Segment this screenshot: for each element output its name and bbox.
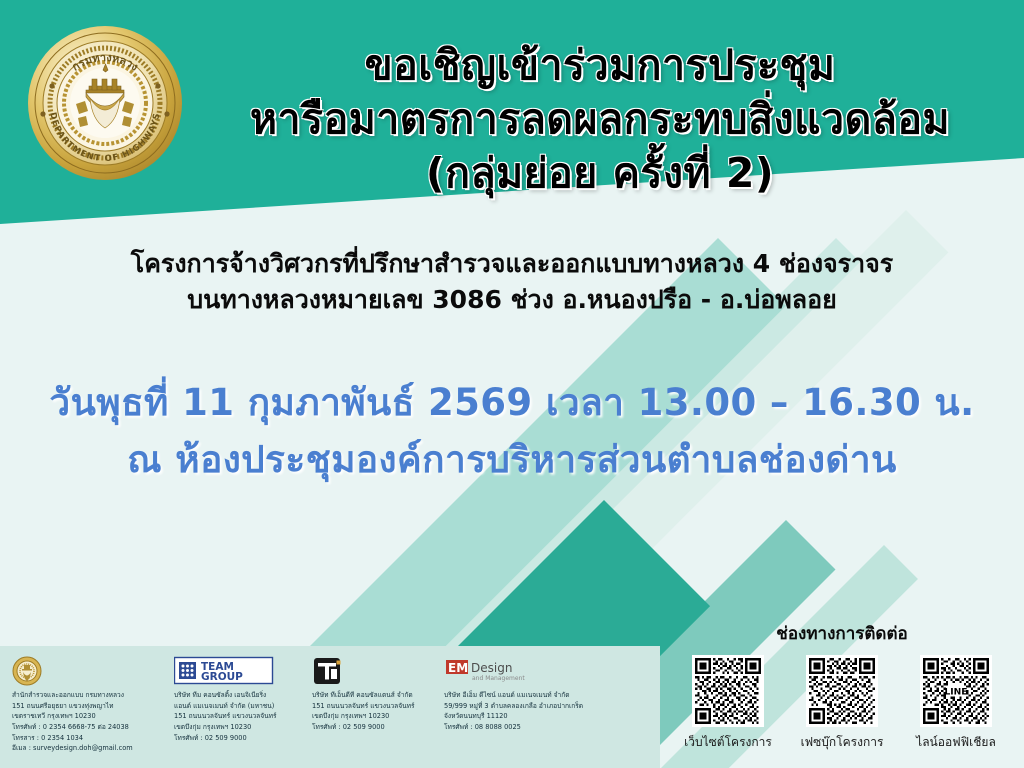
svg-text:EM: EM <box>448 661 468 675</box>
organization-line: เขตราชเทวี กรุงเทพฯ 10230 <box>12 711 164 722</box>
title-line-2: หารือมาตรการลดผลกระทบสิ่งแวดล้อม <box>190 92 1010 146</box>
contact-channel-label: เฟซบุ๊กโครงการ <box>796 733 888 752</box>
svg-text:and Management: and Management <box>472 675 525 682</box>
organization-line: จังหวัดนนทบุรี 11120 <box>444 711 620 722</box>
organization-line: แอนด์ แมเนจเมนท์ จำกัด (มหาชน) <box>174 701 302 712</box>
contact-channel-line[interactable]: LINE ไลน์ออฟฟิเชียล <box>910 655 1002 752</box>
organization-line: โทรศัพท์ : 02 509 9000 <box>312 722 434 733</box>
tndt-consultant-logo-icon <box>312 656 434 686</box>
contact-heading: ช่องทางการติดต่อ <box>660 620 1024 647</box>
organization-line: 151 ถนนนวลจันทร์ แขวงนวลจันทร์ <box>174 711 302 722</box>
organization-line: บริษัท อีเอ็ม ดีไซน์ แอนด์ แมเนจเมนท์ จำ… <box>444 690 620 701</box>
qr-code-line-icon[interactable]: LINE <box>920 655 992 727</box>
title-line-3: (กลุ่มย่อย ครั้งที่ 2) <box>190 146 1010 200</box>
qr-code-icon[interactable] <box>692 655 764 727</box>
organization-block: TEAM GROUP บริษัท ทีม คอนซัลติ้ง เอนจิเน… <box>174 656 312 768</box>
team-group-logo-icon: TEAM GROUP <box>174 656 302 686</box>
organization-line: อีเมล : surveydesign.doh@gmail.com <box>12 743 164 754</box>
meeting-venue: ณ ห้องประชุมองค์การบริหารส่วนตำบลช่องด่า… <box>0 431 1024 488</box>
em-design-logo-icon: EM Design and Management <box>444 656 620 686</box>
svg-text:Design: Design <box>471 661 512 675</box>
meeting-invitation-poster: กรมทางหลวง DEPARTMENT OF HIGHWAYS ขอเชิญ… <box>0 0 1024 768</box>
contact-channel-website[interactable]: เว็บไซต์โครงการ <box>682 655 774 752</box>
meeting-date-time: วันพุธที่ 11 กุมภาพันธ์ 2569 เวลา 13.00 … <box>0 374 1024 431</box>
contact-channel-label: ไลน์ออฟฟิเชียล <box>910 733 1002 752</box>
organization-block: EM Design and Management บริษัท อีเอ็ม ด… <box>444 656 630 768</box>
organization-block: บริษัท ทีเอ็นดีที คอนซัลแตนส์ จำกัด 151 … <box>312 656 444 768</box>
qr-code-icon[interactable] <box>806 655 878 727</box>
organization-line: 151 ถนนศรีอยุธยา แขวงทุ่งพญาไท <box>12 701 164 712</box>
project-name: โครงการจ้างวิศวกรที่ปรึกษาสำรวจและออกแบบ… <box>0 246 1024 319</box>
department-of-highways-seal-icon: กรมทางหลวง DEPARTMENT OF HIGHWAYS <box>26 24 184 182</box>
organization-line: โทรศัพท์ : 08 8088 0025 <box>444 722 620 733</box>
organization-line: โทรสาร : 0 2354 1034 <box>12 733 164 744</box>
schedule-info: วันพุธที่ 11 กุมภาพันธ์ 2569 เวลา 13.00 … <box>0 374 1024 489</box>
title-line-1: ขอเชิญเข้าร่วมการประชุม <box>190 38 1010 92</box>
project-line-1: โครงการจ้างวิศวกรที่ปรึกษาสำรวจและออกแบบ… <box>0 246 1024 282</box>
organization-line: 59/999 หมู่ที่ 3 ตำบลคลองเกลือ อำเภอปากเ… <box>444 701 620 712</box>
footer-organizations: สำนักสำรวจและออกแบบ กรมทางหลวง 151 ถนนศร… <box>0 646 660 768</box>
svg-text:GROUP: GROUP <box>201 671 243 683</box>
organization-line: โทรศัพท์ : 0 2354 6668-75 ต่อ 24038 <box>12 722 164 733</box>
organization-line: บริษัท ทีม คอนซัลติ้ง เอนจิเนียริ่ง <box>174 690 302 701</box>
organization-block: สำนักสำรวจและออกแบบ กรมทางหลวง 151 ถนนศร… <box>12 656 174 768</box>
organization-line: เขตบึงกุ่ม กรุงเทพฯ 10230 <box>312 711 434 722</box>
poster-title: ขอเชิญเข้าร่วมการประชุม หารือมาตรการลดผล… <box>190 38 1010 200</box>
organization-line: โทรศัพท์ : 02 509 9000 <box>174 733 302 744</box>
department-of-highways-seal-icon <box>12 656 164 686</box>
organization-line: 151 ถนนนวลจันทร์ แขวงนวลจันทร์ <box>312 701 434 712</box>
project-line-2: บนทางหลวงหมายเลข 3086 ช่วง อ.หนองปรือ - … <box>0 282 1024 318</box>
contact-channels: ช่องทางการติดต่อ <box>660 620 1024 752</box>
organization-line: เขตบึงกุ่ม กรุงเทพฯ 10230 <box>174 722 302 733</box>
svg-text:LINE: LINE <box>944 687 967 697</box>
contact-channel-label: เว็บไซต์โครงการ <box>682 733 774 752</box>
contact-channel-facebook[interactable]: เฟซบุ๊กโครงการ <box>796 655 888 752</box>
organization-line: บริษัท ทีเอ็นดีที คอนซัลแตนส์ จำกัด <box>312 690 434 701</box>
organization-line: สำนักสำรวจและออกแบบ กรมทางหลวง <box>12 690 164 701</box>
